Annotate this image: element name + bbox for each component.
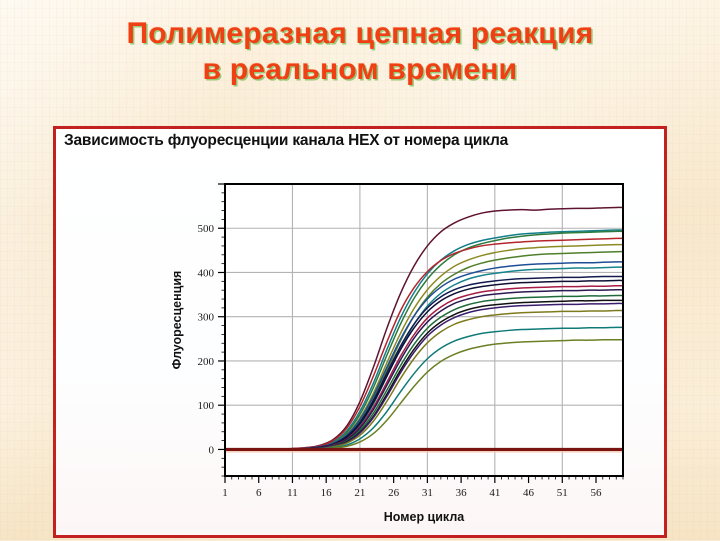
x-tick-label: 51 bbox=[557, 487, 568, 499]
x-tick-labels: 1611162126313641465156 bbox=[222, 487, 602, 499]
y-axis-title: Флуоресценция bbox=[170, 271, 184, 370]
x-tick-label: 36 bbox=[456, 487, 468, 499]
chart-panel: Зависимость флуоресценции канала HEX от … bbox=[53, 126, 667, 538]
slide-title: Полимеразная цепная реакция в реальном в… bbox=[0, 16, 720, 88]
slide-title-line-2: в реальном времени bbox=[0, 52, 720, 88]
plot-area: 1611162126313641465156 0100200300400500 … bbox=[56, 129, 670, 541]
x-tick-label: 16 bbox=[321, 487, 333, 499]
slide-title-line-1: Полимеразная цепная реакция bbox=[0, 16, 720, 52]
x-tick-label: 1 bbox=[222, 487, 228, 499]
amplification-plot-svg: 1611162126313641465156 0100200300400500 … bbox=[56, 129, 670, 541]
plot-gridlines bbox=[225, 184, 623, 476]
x-tick-label: 21 bbox=[354, 487, 365, 499]
x-tick-label: 6 bbox=[256, 487, 262, 499]
y-tick-labels: 0100200300400500 bbox=[198, 223, 215, 456]
y-tick-label: 0 bbox=[209, 444, 215, 456]
plot-baseline bbox=[225, 449, 623, 451]
y-tick-label: 200 bbox=[198, 356, 215, 368]
x-tick-label: 31 bbox=[422, 487, 433, 499]
x-tick-label: 11 bbox=[287, 487, 298, 499]
y-tick-label: 300 bbox=[198, 312, 215, 324]
x-tick-label: 26 bbox=[388, 487, 400, 499]
y-tick-label: 100 bbox=[198, 400, 215, 412]
x-tick-label: 56 bbox=[591, 487, 603, 499]
y-tick-label: 500 bbox=[198, 223, 215, 235]
x-tick-label: 46 bbox=[523, 487, 535, 499]
y-tick-label: 400 bbox=[198, 267, 215, 279]
x-axis-title: Номер цикла bbox=[384, 510, 466, 524]
x-tick-label: 41 bbox=[489, 487, 500, 499]
